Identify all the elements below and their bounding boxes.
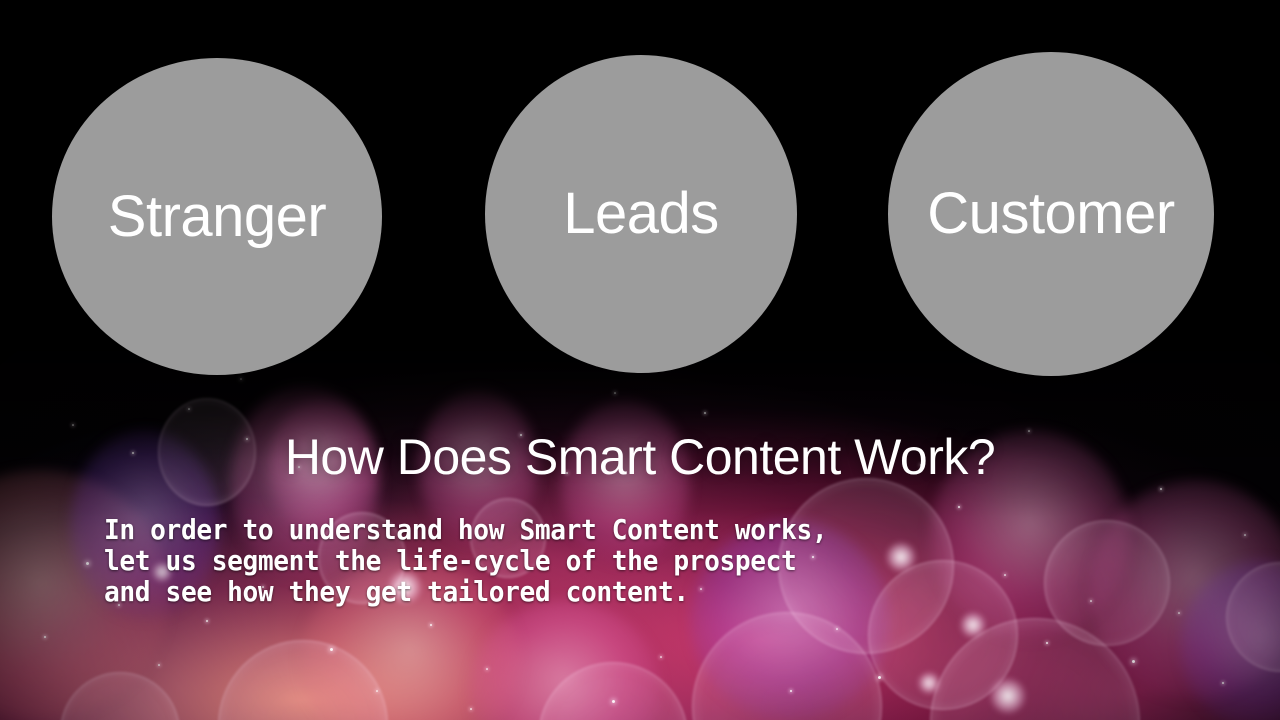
body-copy-line: let us segment the life-cycle of the pro… (104, 545, 1142, 576)
body-copy-line: and see how they get tailored content. (104, 576, 1142, 607)
lifecycle-node-label: Leads (563, 185, 719, 243)
slide-canvas: Stranger Leads Customer How Does Smart C… (0, 0, 1280, 720)
lifecycle-node-label: Customer (927, 185, 1174, 243)
lifecycle-node-label: Stranger (108, 188, 326, 246)
slide-headline: How Does Smart Content Work? (0, 432, 1280, 482)
lifecycle-node-leads[interactable]: Leads (485, 55, 797, 373)
lifecycle-node-customer[interactable]: Customer (888, 52, 1214, 376)
lifecycle-diagram: Stranger Leads Customer (0, 0, 1280, 720)
lifecycle-node-stranger[interactable]: Stranger (52, 58, 382, 375)
slide-body-copy: In order to understand how Smart Content… (104, 514, 1142, 607)
body-copy-line: In order to understand how Smart Content… (104, 514, 1142, 545)
